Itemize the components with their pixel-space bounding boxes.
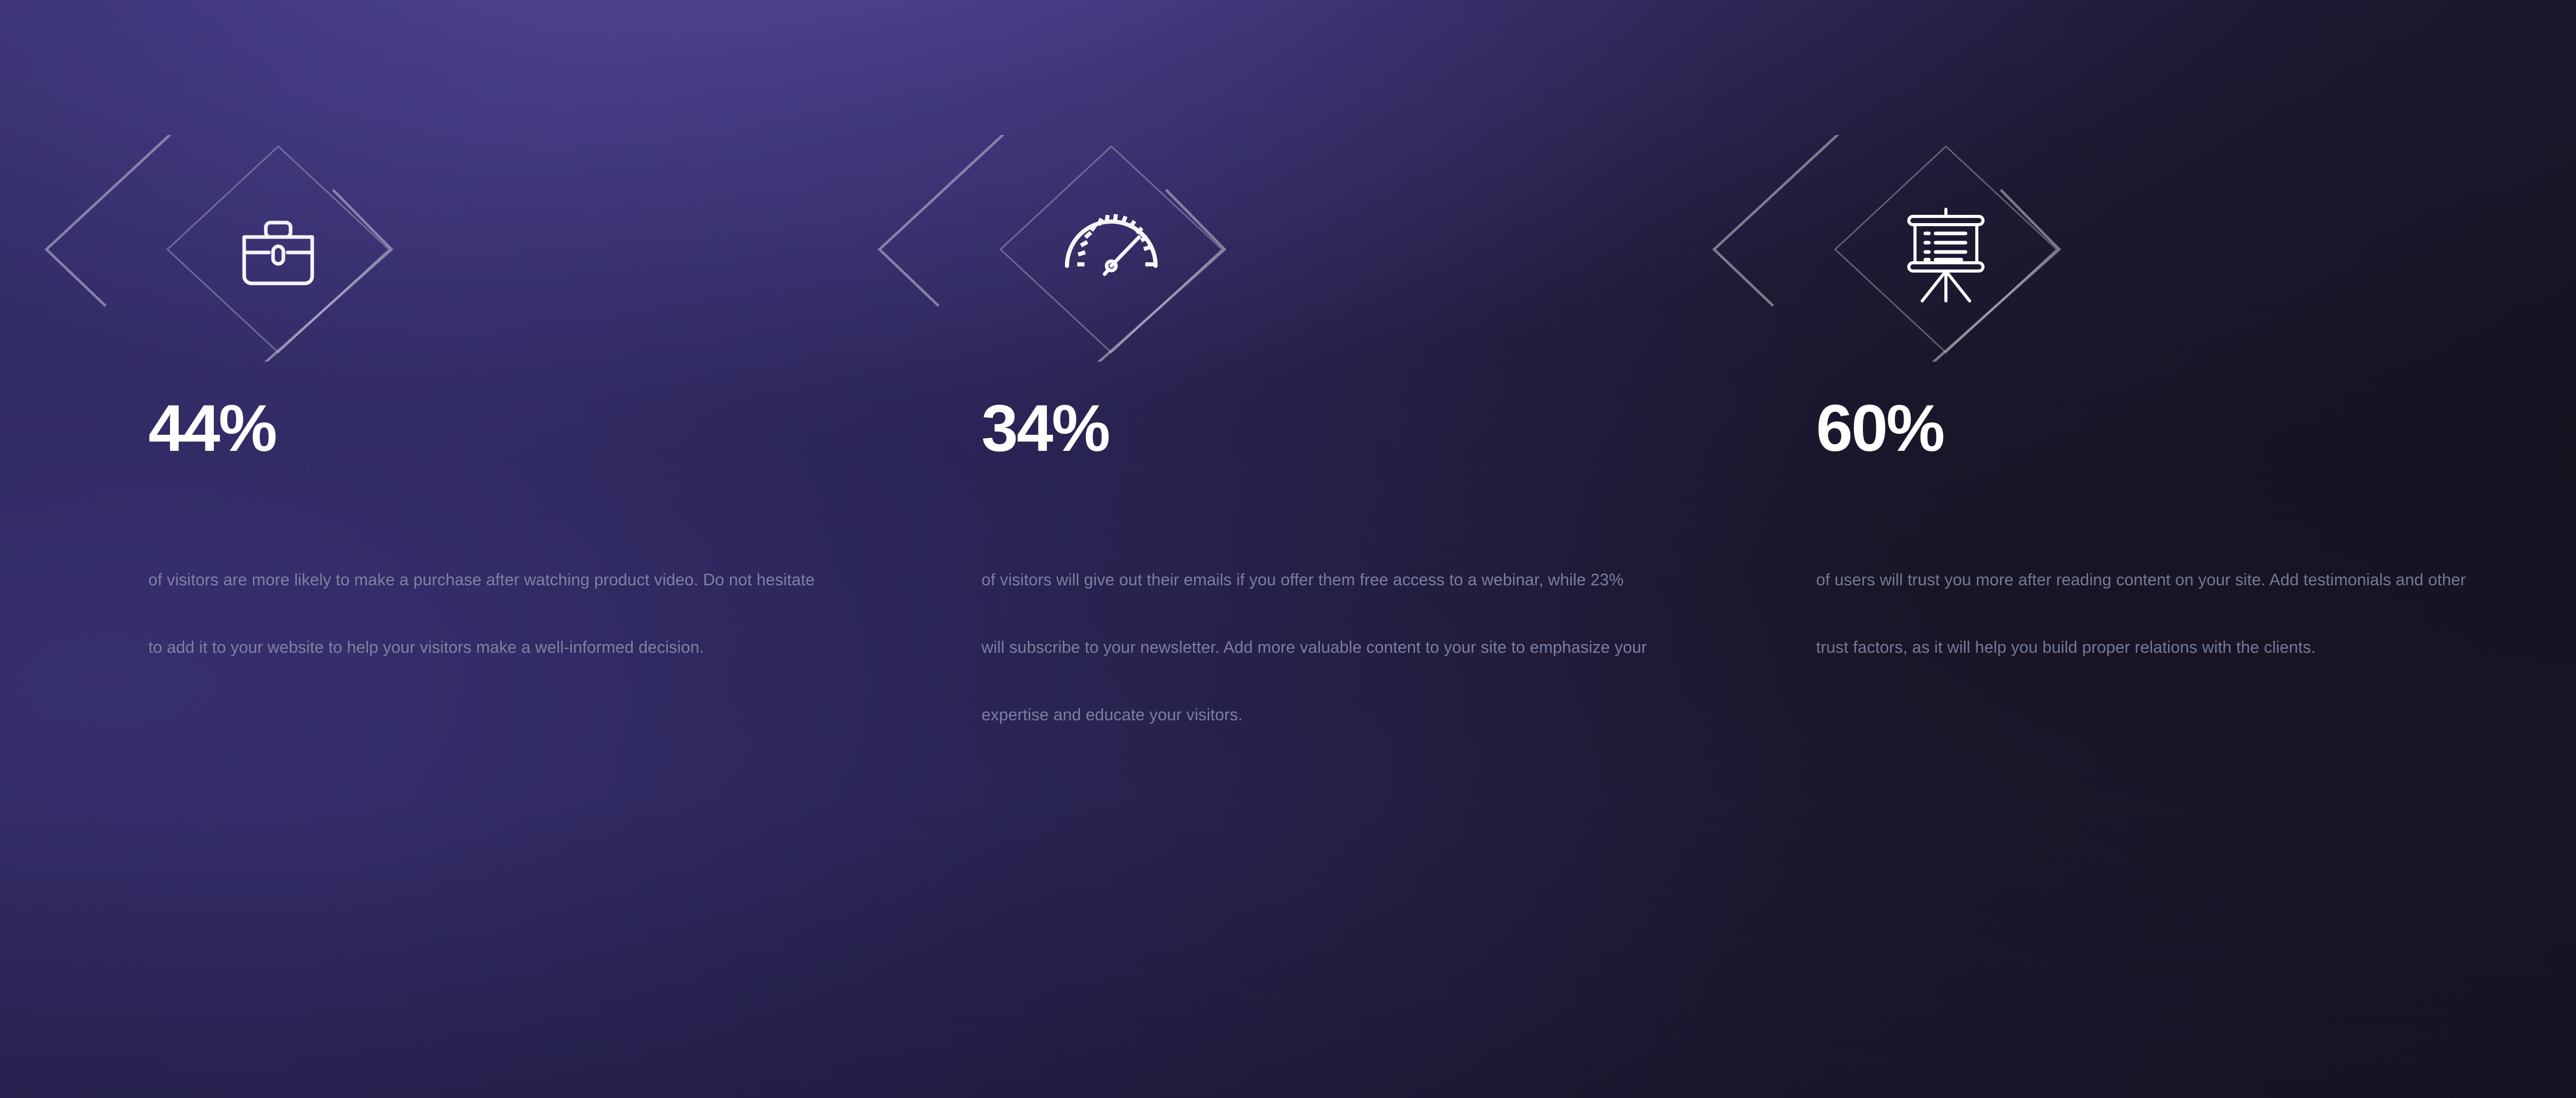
stat-description: of visitors are more likely to make a pu… <box>148 546 818 681</box>
stat-number: 44% <box>148 396 276 462</box>
stat-number: 60% <box>1816 396 1943 462</box>
presentation-board-icon <box>1692 135 2208 362</box>
stat-card-3: 60% of users will trust you more after r… <box>1816 0 2576 1098</box>
stat-card-1: 44% of visitors are more likely to make … <box>148 0 921 1098</box>
stat-description: of visitors will give out their emails i… <box>981 546 1651 749</box>
briefcase-icon <box>25 135 540 362</box>
stat-card-2: 34% of visitors will give out their emai… <box>981 0 1754 1098</box>
speedometer-icon <box>858 135 1373 362</box>
stat-number: 34% <box>981 396 1109 462</box>
stats-section: 44% of visitors are more likely to make … <box>0 0 2576 1098</box>
speedometer-icon-block <box>858 135 1373 362</box>
presentation-board-icon-block <box>1692 135 2208 362</box>
briefcase-icon-block <box>25 135 540 362</box>
stat-description: of users will trust you more after readi… <box>1816 546 2486 681</box>
